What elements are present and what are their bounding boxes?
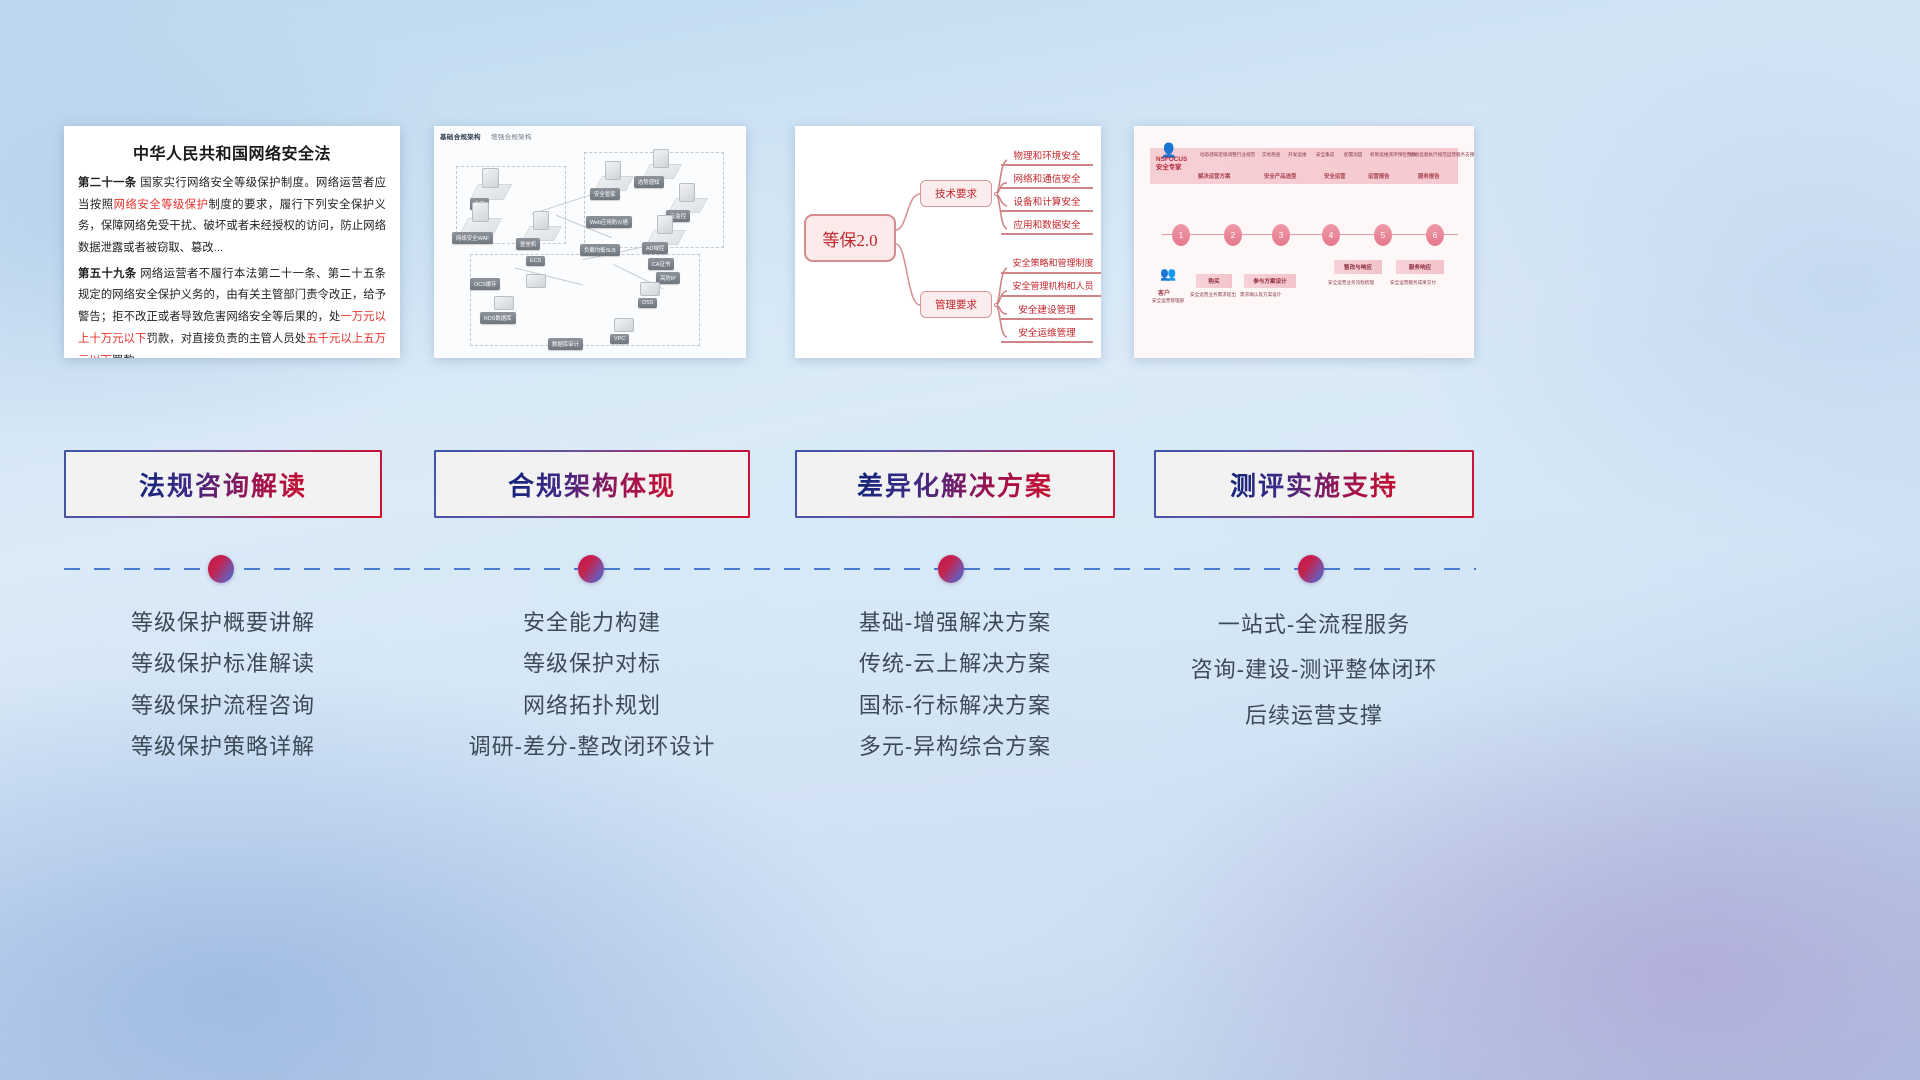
article-21-label: 第二十一条 — [78, 177, 137, 189]
nsfocus-bottom-right-sub-1: 安全运营服务成果交付 — [1390, 280, 1436, 286]
arch-block-vpc — [614, 318, 634, 332]
mindmap: 等保2.0 技术要求 物理和环境安全 网络和通信安全 设备和计算安全 应用和数据… — [795, 126, 1101, 358]
architecture-header: 基础合规架构 增强合规架构 — [440, 131, 540, 141]
nsfocus-step-2: 2 — [1224, 224, 1242, 246]
mindmap-leaf-t3: 应用和数据安全 — [1001, 214, 1093, 235]
mindmap-leaf-m1: 安全管理机构和人员 — [1001, 276, 1101, 297]
article-21-highlight: 网络安全等级保护 — [114, 199, 209, 211]
arch-block-oss — [640, 282, 660, 296]
section-list-4: 一站式-全流程服务 咨询-建设-测评整体闭环 后续运营支撑 — [1154, 602, 1474, 738]
arch-block-4 — [605, 161, 621, 180]
arch-node-10: CA证书 — [648, 258, 674, 270]
law-title: 中华人民共和国网络安全法 — [78, 140, 386, 164]
section-list-3: 基础-增强解决方案 传统-云上解决方案 国标-行标解决方案 多元-异构综合方案 — [795, 602, 1115, 767]
nsfocus-top-label-1: 实地勘查 — [1262, 152, 1280, 158]
law-body: 中华人民共和国网络安全法 第二十一条 国家实行网络安全等级保护制度。网络运营者应… — [64, 126, 400, 358]
law-article-59: 第五十九条 网络运营者不履行本法第二十一条、第二十五条规定的网络安全保护义务的，… — [78, 264, 386, 358]
arch-node-14: OSS — [638, 298, 657, 308]
card-nsfocus-service-flow: 👤 NSFOCUS 安全专家 动态感知定级调整行业规范 实地勘查 开发运维 安全… — [1134, 126, 1474, 358]
list-item: 调研-差分-整改闭环设计 — [434, 726, 750, 767]
nsfocus-client-title: 客户 — [1158, 288, 1170, 297]
nsfocus-diagram: 👤 NSFOCUS 安全专家 动态感知定级调整行业规范 实地勘查 开发运维 安全… — [1134, 126, 1474, 358]
timeline-dot-3[interactable] — [938, 555, 964, 583]
nsfocus-timeline-line — [1162, 234, 1458, 235]
nsfocus-brand-line2: 安全专家 — [1156, 164, 1187, 172]
mindmap-leaf-t1: 网络和通信安全 — [1001, 168, 1093, 189]
nsfocus-bottom-sub-0: 安全运营业务需求提出 — [1190, 292, 1236, 298]
section-list-1: 等级保护概要讲解 等级保护标准解读 等级保护流程咨询 等级保护策略详解 — [64, 602, 382, 767]
article-59-text-3: 罚款。 — [112, 355, 146, 359]
mindmap-leaf-m2: 安全建设管理 — [1001, 299, 1093, 320]
list-item: 等级保护流程咨询 — [64, 685, 382, 726]
nsfocus-top-label-6: 协助监督执行规范运营服务支撑 — [1410, 152, 1474, 158]
nsfocus-phase-tag-1: 安全产品选型 — [1264, 172, 1296, 180]
list-item: 安全能力构建 — [434, 602, 750, 643]
nsfocus-phase-tag-3: 运营报告 — [1368, 172, 1390, 180]
arch-block-rds — [494, 296, 514, 310]
article-59-text-2: 罚款，对直接负责的主管人员处 — [146, 333, 306, 345]
nsfocus-bottom-right-tag-0: 整改与响应 — [1334, 260, 1382, 274]
list-item: 等级保护概要讲解 — [64, 602, 382, 643]
section-title-box-4[interactable]: 测评实施支持 — [1154, 450, 1474, 518]
nsfocus-step-5: 5 — [1374, 224, 1392, 246]
nsfocus-step-3: 3 — [1272, 224, 1290, 246]
mindmap-leaf-t2: 设备和计算安全 — [1001, 191, 1093, 212]
nsfocus-phase-tag-4: 服务报告 — [1418, 172, 1440, 180]
arch-block-3 — [533, 211, 549, 230]
nsfocus-bottom-sub-1: 需求确认及方案设计 — [1240, 292, 1281, 298]
arch-node-7: Web应用防火墙 — [586, 216, 632, 228]
arch-node-3: 安全管家 — [590, 188, 620, 200]
article-59-label: 第五十九条 — [78, 268, 137, 280]
timeline-dot-4[interactable] — [1298, 555, 1324, 583]
arch-node-16: 数据库审计 — [548, 338, 583, 350]
arch-node-2: 堡垒机 — [516, 238, 540, 250]
arch-block-6 — [679, 183, 695, 202]
card-mindmap-dengbao: 等保2.0 技术要求 物理和环境安全 网络和通信安全 设备和计算安全 应用和数据… — [795, 126, 1101, 358]
list-item: 等级保护标准解读 — [64, 643, 382, 684]
list-item: 传统-云上解决方案 — [795, 643, 1115, 684]
card-cloud-architecture: 基础合规架构 增强合规架构 云盾 网络安全WAF 堡 — [434, 126, 746, 358]
list-item: 一站式-全流程服务 — [1154, 602, 1474, 647]
section-title-3: 差异化解决方案 — [857, 466, 1053, 503]
arch-node-6: AD域控 — [642, 242, 668, 254]
client-icon: 👥 — [1160, 266, 1176, 282]
nsfocus-step-4: 4 — [1322, 224, 1340, 246]
nsfocus-bottom-tag-1: 参与方案设计 — [1244, 274, 1296, 288]
timeline — [64, 568, 1476, 570]
reference-cards-row: 中华人民共和国网络安全法 第二十一条 国家实行网络安全等级保护制度。网络运营者应… — [0, 126, 1920, 358]
nsfocus-phase-tag-2: 安全运营 — [1324, 172, 1346, 180]
arch-block-5 — [653, 149, 669, 168]
list-item: 等级保护对标 — [434, 643, 750, 684]
arch-block-ecs — [526, 274, 546, 288]
list-item: 基础-增强解决方案 — [795, 602, 1115, 643]
mindmap-branch-technical: 技术要求 — [920, 180, 992, 207]
arch-header-basic: 基础合规架构 — [440, 134, 481, 141]
nsfocus-top-label-4: 配置加固 — [1344, 152, 1362, 158]
mindmap-root: 等保2.0 — [804, 214, 896, 262]
nsfocus-bottom-right-sub-0: 安全运营业务流程梳理 — [1328, 280, 1374, 286]
nsfocus-phase-tag-0: 解决运营方案 — [1198, 172, 1230, 180]
arch-node-12: OCS缓存 — [470, 278, 500, 290]
section-titles-row: 法规咨询解读 合规架构体现 差异化解决方案 测评实施支持 — [0, 450, 1920, 518]
section-list-2: 安全能力构建 等级保护对标 网络拓扑规划 调研-差分-整改闭环设计 — [434, 602, 750, 767]
mindmap-dot-management — [994, 303, 998, 307]
arch-node-9: ECS — [526, 256, 545, 266]
arch-block-7 — [657, 215, 673, 234]
arch-node-4: 态势感知 — [634, 176, 664, 188]
list-item: 后续运营支撑 — [1154, 693, 1474, 738]
nsfocus-top-label-0: 动态感知定级调整行业规范 — [1200, 152, 1255, 158]
section-title-4: 测评实施支持 — [1230, 466, 1398, 503]
nsfocus-client-sub: 安全运营管理部 — [1152, 298, 1184, 304]
nsfocus-brand-line1: NSFOCUS — [1156, 156, 1187, 164]
nsfocus-step-6: 6 — [1426, 224, 1444, 246]
nsfocus-brand: NSFOCUS 安全专家 — [1156, 156, 1187, 172]
card-cybersecurity-law: 中华人民共和国网络安全法 第二十一条 国家实行网络安全等级保护制度。网络运营者应… — [64, 126, 400, 358]
architecture-diagram: 基础合规架构 增强合规架构 云盾 网络安全WAF 堡 — [434, 126, 746, 358]
timeline-dot-2[interactable] — [578, 555, 604, 583]
arch-node-13: RDS数据库 — [480, 312, 516, 324]
list-item: 多元-异构综合方案 — [795, 726, 1115, 767]
arch-node-1: 网络安全WAF — [452, 232, 493, 244]
list-item: 等级保护策略详解 — [64, 726, 382, 767]
list-item: 网络拓扑规划 — [434, 685, 750, 726]
nsfocus-top-label-2: 开发运维 — [1288, 152, 1306, 158]
mindmap-leaf-m3: 安全运维管理 — [1001, 322, 1093, 343]
list-item: 国标-行标解决方案 — [795, 685, 1115, 726]
mindmap-branch-management: 管理要求 — [920, 291, 992, 318]
arch-node-8: 负载均衡SLB — [580, 244, 620, 256]
section-title-2: 合规架构体现 — [508, 466, 676, 503]
section-title-box-1[interactable]: 法规咨询解读 — [64, 450, 382, 518]
section-title-box-3[interactable]: 差异化解决方案 — [795, 450, 1115, 518]
timeline-dot-1[interactable] — [208, 555, 234, 583]
timeline-dashed-line — [64, 568, 1476, 570]
list-item: 咨询-建设-测评整体闭环 — [1154, 647, 1474, 692]
arch-node-15: VPC — [610, 334, 629, 344]
mindmap-dot-technical — [994, 192, 998, 196]
mindmap-leaf-m0: 安全策略和管理制度 — [1001, 253, 1101, 274]
nsfocus-step-1: 1 — [1172, 224, 1190, 246]
arch-block-1 — [482, 168, 499, 188]
nsfocus-bottom-tag-0: 购买 — [1196, 274, 1232, 288]
arch-block-2 — [472, 202, 489, 222]
law-article-21: 第二十一条 国家实行网络安全等级保护制度。网络运营者应当按照网络安全等级保护制度… — [78, 173, 386, 260]
nsfocus-top-label-3: 安全集成 — [1316, 152, 1334, 158]
section-title-1: 法规咨询解读 — [139, 466, 307, 503]
mindmap-leaf-t0: 物理和环境安全 — [1001, 145, 1093, 166]
arch-header-enhanced: 增强合规架构 — [491, 134, 532, 141]
section-title-box-2[interactable]: 合规架构体现 — [434, 450, 750, 518]
nsfocus-bottom-right-tag-1: 服务响应 — [1396, 260, 1444, 274]
